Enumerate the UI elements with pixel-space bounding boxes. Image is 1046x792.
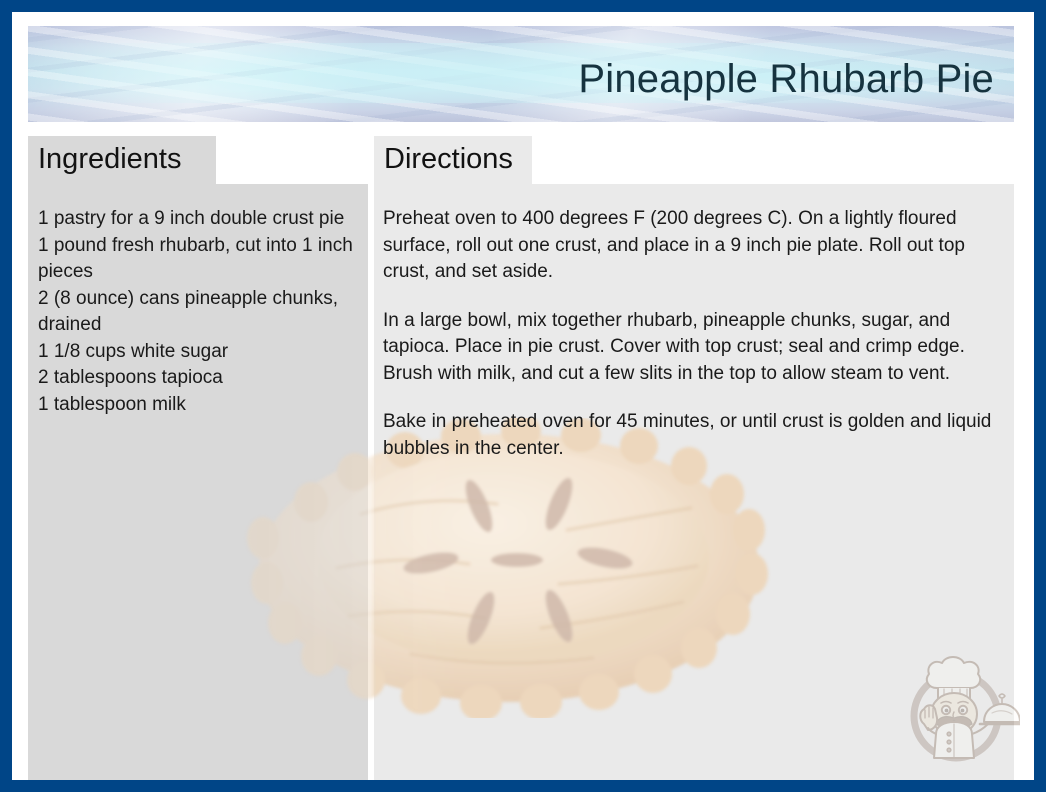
directions-panel: Directions Preheat oven to 400 degrees F…	[374, 184, 1014, 780]
directions-heading-tab: Directions	[374, 136, 532, 184]
page-title: Pineapple Rhubarb Pie	[578, 57, 994, 102]
ingredients-heading: Ingredients	[38, 145, 182, 174]
ingredients-panel: Ingredients 1 pastry for a 9 inch double…	[28, 184, 368, 780]
list-item: 1 1/8 cups white sugar	[38, 339, 358, 366]
list-item: 1 pastry for a 9 inch double crust pie	[38, 206, 358, 233]
direction-step: Preheat oven to 400 degrees F (200 degre…	[383, 206, 998, 286]
directions-steps: Preheat oven to 400 degrees F (200 degre…	[374, 184, 1014, 462]
direction-step: Bake in preheated oven for 45 minutes, o…	[383, 409, 998, 462]
directions-heading: Directions	[384, 145, 513, 174]
list-item: 2 (8 ounce) cans pineapple chunks, drain…	[38, 286, 358, 339]
list-item: 1 tablespoon milk	[38, 392, 358, 419]
list-item: 1 pound fresh rhubarb, cut into 1 inch p…	[38, 233, 358, 286]
ingredients-heading-tab: Ingredients	[28, 136, 216, 184]
ingredients-list: 1 pastry for a 9 inch double crust pie 1…	[28, 184, 368, 418]
title-banner: Pineapple Rhubarb Pie	[28, 26, 1014, 122]
direction-step: In a large bowl, mix together rhubarb, p…	[383, 308, 998, 388]
recipe-page: Pineapple Rhubarb Pie	[12, 12, 1034, 780]
list-item: 2 tablespoons tapioca	[38, 365, 358, 392]
recipe-card: Pineapple Rhubarb Pie	[0, 0, 1046, 792]
